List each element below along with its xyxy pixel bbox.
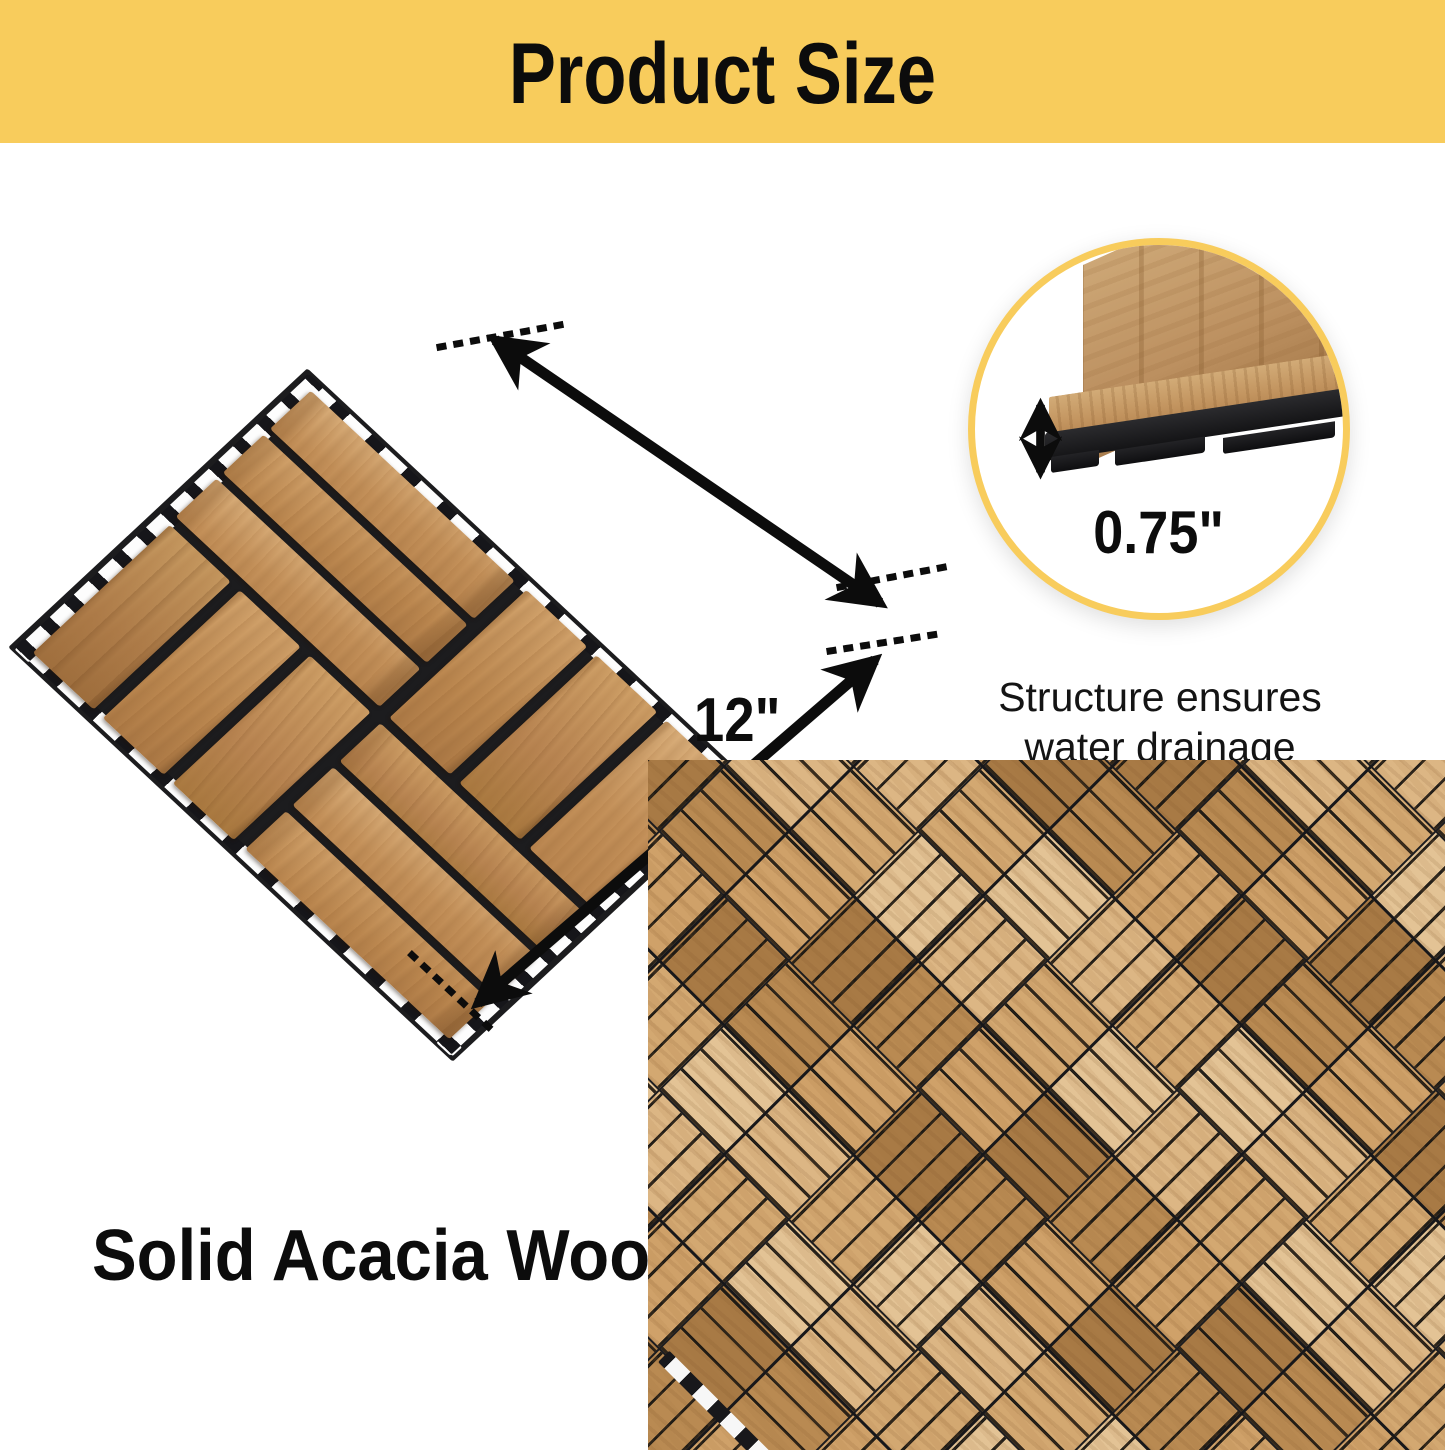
floor-rotation-wrapper: [648, 760, 1445, 1450]
thickness-label: 0.75": [975, 503, 1343, 563]
acacia-wood-surface: [23, 383, 736, 1048]
drainage-caption: Structure ensures water drainage: [960, 672, 1360, 772]
page-title: Product Size: [509, 31, 936, 117]
material-headline: Solid Acacia Wood: [92, 1216, 691, 1296]
thickness-detail-circle: 0.75": [968, 238, 1350, 620]
dimension-label-width: 12": [694, 690, 781, 752]
thickness-value: 0.75": [1094, 503, 1225, 563]
deck-tile-isometric: [23, 383, 736, 1048]
header-banner: Product Size: [0, 0, 1445, 143]
installed-deck-floor-photo: [648, 760, 1445, 1450]
deck-tile-grid: [648, 760, 1445, 1450]
